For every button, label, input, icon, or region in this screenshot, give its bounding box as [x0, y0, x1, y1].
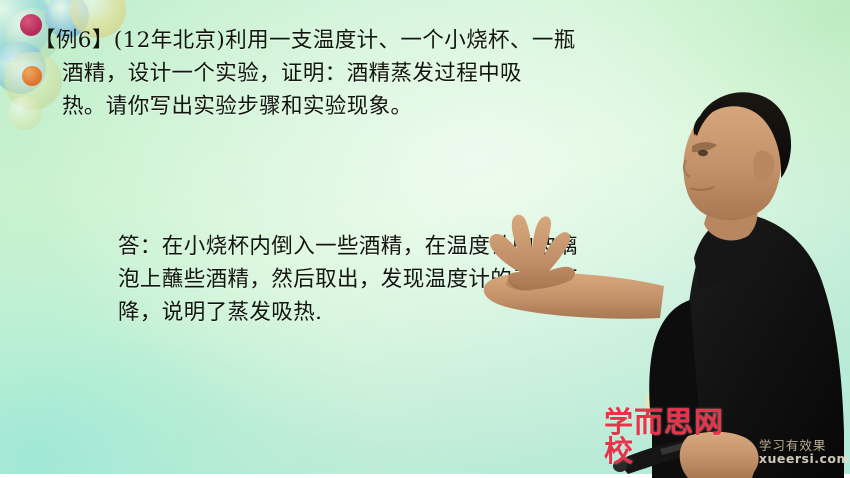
- question-line-1: 【例6】(12年北京)利用一支温度计、一个小烧杯、一瓶: [34, 24, 674, 57]
- question-line-2: 酒精，设计一个实验，证明：酒精蒸发过程中吸: [34, 57, 674, 90]
- answer-text-block: 答：在小烧杯内倒入一些酒精，在温度计的玻璃 泡上蘸些酒精，然后取出，发现温度计的…: [118, 230, 678, 329]
- video-frame: 【例6】(12年北京)利用一支温度计、一个小烧杯、一瓶 酒精，设计一个实验，证明…: [0, 0, 850, 478]
- watermark-url: xueersi.com: [759, 452, 850, 465]
- answer-line-2: 泡上蘸些酒精，然后取出，发现温度计的示数下: [118, 263, 678, 296]
- question-text-block: 【例6】(12年北京)利用一支温度计、一个小烧杯、一瓶 酒精，设计一个实验，证明…: [34, 24, 674, 123]
- answer-line-1: 答：在小烧杯内倒入一些酒精，在温度计的玻璃: [118, 230, 678, 263]
- watermark-slogan: 学习有效果: [759, 439, 850, 452]
- watermark-side-block: 学习有效果 xueersi.com: [759, 439, 850, 466]
- question-line-3: 热。请你写出实验步骤和实验现象。: [34, 90, 674, 123]
- watermark-brand-text: 学而思网校: [604, 408, 754, 466]
- brand-watermark: 学而思网校 学习有效果 xueersi.com: [604, 408, 850, 466]
- bottom-letterbox-strip: [0, 474, 850, 478]
- answer-line-3: 降，说明了蒸发吸热.: [118, 296, 678, 329]
